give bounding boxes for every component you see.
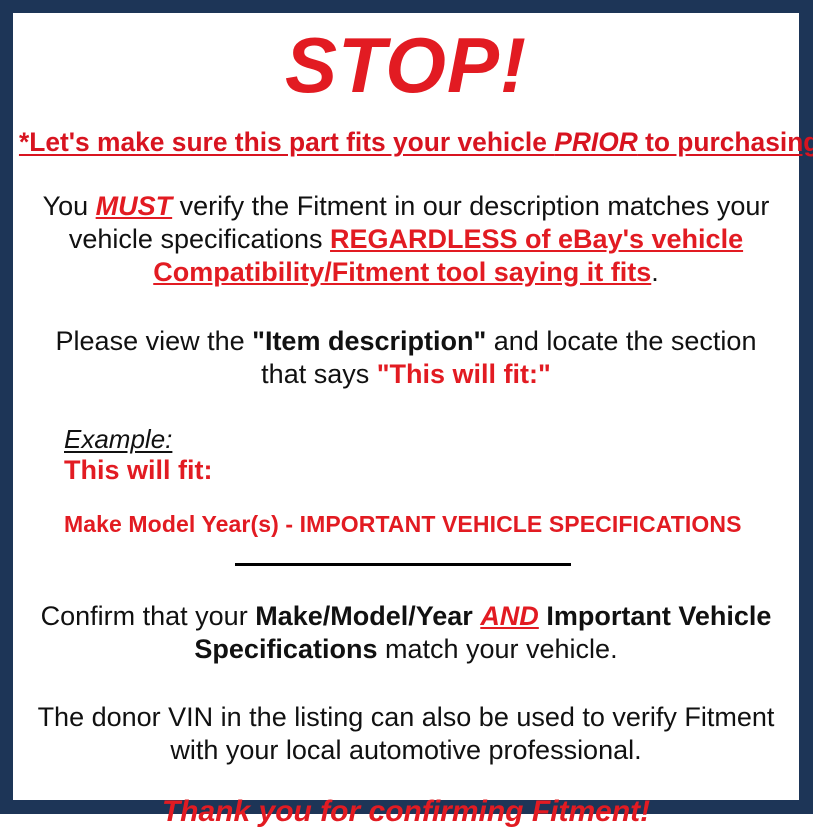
subtitle-banner: *Let's make sure this part fits your veh… — [19, 128, 793, 157]
section-divider — [235, 563, 571, 566]
confirm-paragraph: Confirm that your Make/Model/Year AND Im… — [17, 600, 795, 666]
must-emphasis: MUST — [96, 191, 173, 221]
must-verify-paragraph: You MUST verify the Fitment in our descr… — [17, 190, 795, 289]
divider-wrap — [17, 563, 795, 566]
example-fit-heading: This will fit: — [64, 455, 795, 486]
subtitle-tail: to purchasing* — [638, 127, 813, 157]
example-label-row: Example: — [64, 425, 795, 454]
must-part-3: . — [651, 257, 659, 287]
and-emphasis: AND — [480, 601, 539, 631]
must-part-1: You — [43, 191, 96, 221]
example-block: Example: This will fit: Make Model Year(… — [17, 425, 795, 538]
item-description-paragraph: Please view the "Item description" and l… — [17, 325, 795, 391]
desc-part-1: Please view the — [56, 326, 253, 356]
subtitle-emphasis-prior: PRIOR — [554, 127, 638, 157]
item-description-label: "Item description" — [252, 326, 486, 356]
fitment-notice-card: STOP! *Let's make sure this part fits yo… — [0, 0, 813, 814]
confirm-part-1: Confirm that your — [41, 601, 256, 631]
this-will-fit-label: "This will fit:" — [377, 359, 551, 389]
example-label: Example: — [64, 425, 172, 454]
vin-paragraph: The donor VIN in the listing can also be… — [17, 701, 795, 767]
notice-content: STOP! *Let's make sure this part fits yo… — [13, 13, 799, 800]
page-title: STOP! — [17, 26, 795, 104]
confirm-part-2: match your vehicle. — [377, 634, 617, 664]
make-model-year-emphasis: Make/Model/Year — [255, 601, 473, 631]
thanks-message: Thank you for confirming Fitment! — [17, 795, 795, 830]
subtitle-lead: *Let's make sure this part fits your veh… — [19, 127, 554, 157]
example-spec-line: Make Model Year(s) - IMPORTANT VEHICLE S… — [64, 511, 795, 537]
